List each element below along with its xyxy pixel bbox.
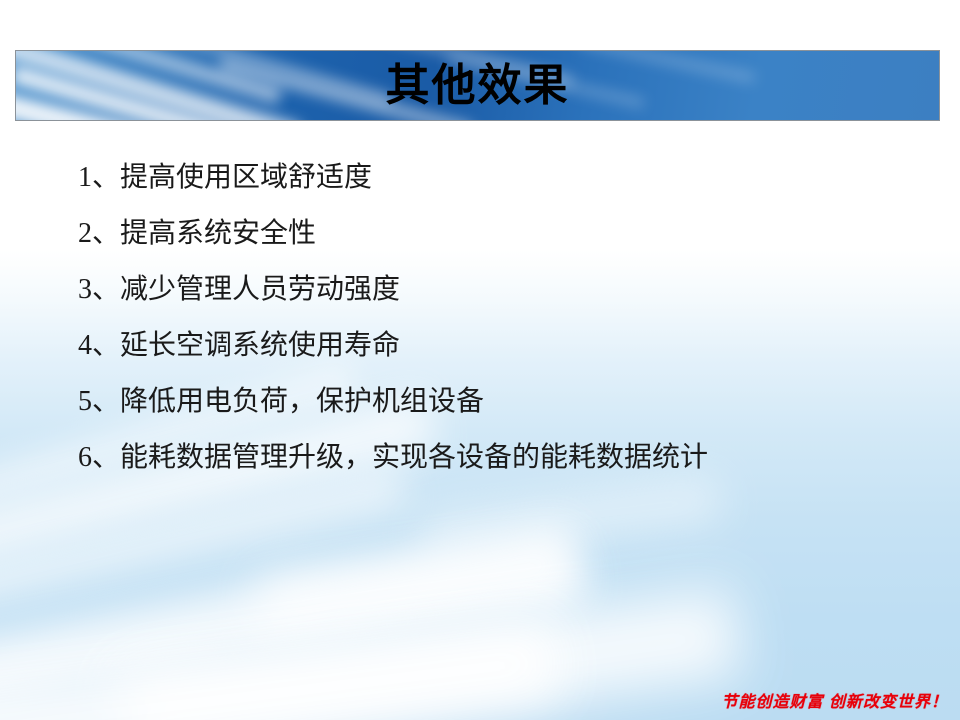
list-item: 6、能耗数据管理升级，实现各设备的能耗数据统计 [78, 430, 918, 486]
presentation-slide: 其他效果 1、提高使用区域舒适度 2、提高系统安全性 3、减少管理人员劳动强度 … [0, 0, 960, 720]
title-banner: 其他效果 [15, 50, 940, 121]
list-item: 5、降低用电负荷，保护机组设备 [78, 374, 918, 430]
footer-slogan: 节能创造财富 创新改变世界！ [722, 688, 948, 712]
list-item: 1、提高使用区域舒适度 [78, 150, 918, 206]
list-item: 2、提高系统安全性 [78, 206, 918, 262]
list-item: 4、延长空调系统使用寿命 [78, 318, 918, 374]
bullet-list: 1、提高使用区域舒适度 2、提高系统安全性 3、减少管理人员劳动强度 4、延长空… [78, 150, 918, 486]
slide-title: 其他效果 [16, 51, 939, 120]
list-item: 3、减少管理人员劳动强度 [78, 262, 918, 318]
